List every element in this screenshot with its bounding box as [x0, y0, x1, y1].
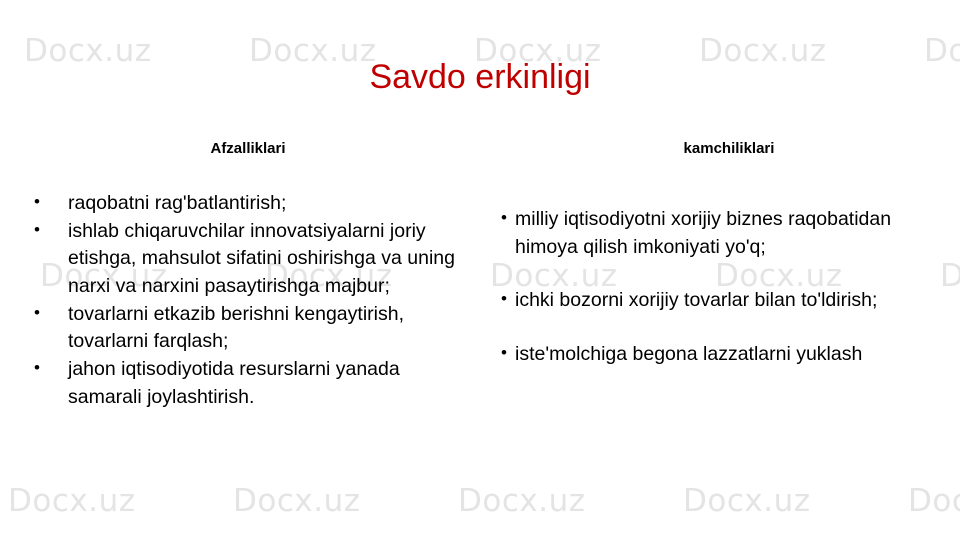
bullet-dot-icon: • [501, 206, 507, 230]
slide-content: Savdo erkinligi Afzalliklari •raqobatni … [0, 0, 960, 540]
bullet-dot-icon: • [501, 341, 507, 365]
bullet-dot-icon: • [34, 190, 40, 214]
advantages-list: •raqobatni rag'batlantirish;•ishlab chiq… [14, 190, 466, 412]
bullet-dot-icon: • [34, 356, 40, 380]
bullet-dot-icon: • [34, 301, 40, 325]
presentation-slide: Docx.uzDocx.uzDocx.uzDocx.uzDocx.uzDocx.… [0, 0, 960, 540]
list-item: •tovarlarni etkazib berishni kengaytiris… [14, 301, 466, 356]
bullet-dot-icon: • [501, 287, 507, 311]
list-item-text: ichki bozorni xorijiy tovarlar bilan to'… [515, 289, 877, 311]
list-item: •jahon iqtisodiyotida resurslarni yanada… [14, 356, 466, 411]
list-item: •milliy iqtisodiyotni xorijiy biznes raq… [490, 206, 946, 261]
list-item-text: ishlab chiqaruvchilar innovatsiyalarni j… [68, 220, 455, 297]
advantages-heading: Afzalliklari [14, 140, 466, 158]
bullet-dot-icon: • [34, 218, 40, 242]
disadvantages-column: kamchiliklari •milliy iqtisodiyotni xori… [490, 140, 946, 369]
advantages-column: Afzalliklari •raqobatni rag'batlantirish… [14, 140, 466, 412]
list-item: •ishlab chiqaruvchilar innovatsiyalarni … [14, 218, 466, 301]
disadvantages-list: •milliy iqtisodiyotni xorijiy biznes raq… [490, 206, 946, 369]
slide-title: Savdo erkinligi [0, 58, 960, 97]
list-item: •iste'molchiga begona lazzatlarni yuklas… [490, 341, 946, 369]
list-item-text: raqobatni rag'batlantirish; [68, 192, 286, 214]
list-item-text: tovarlarni etkazib berishni kengaytirish… [68, 303, 404, 353]
list-item-text: jahon iqtisodiyotida resurslarni yanada … [68, 358, 400, 408]
list-item: •ichki bozorni xorijiy tovarlar bilan to… [490, 287, 946, 315]
list-item: •raqobatni rag'batlantirish; [14, 190, 466, 218]
disadvantages-heading: kamchiliklari [490, 140, 946, 158]
list-item-text: iste'molchiga begona lazzatlarni yuklash [515, 343, 862, 365]
list-item-text: milliy iqtisodiyotni xorijiy biznes raqo… [515, 208, 891, 258]
